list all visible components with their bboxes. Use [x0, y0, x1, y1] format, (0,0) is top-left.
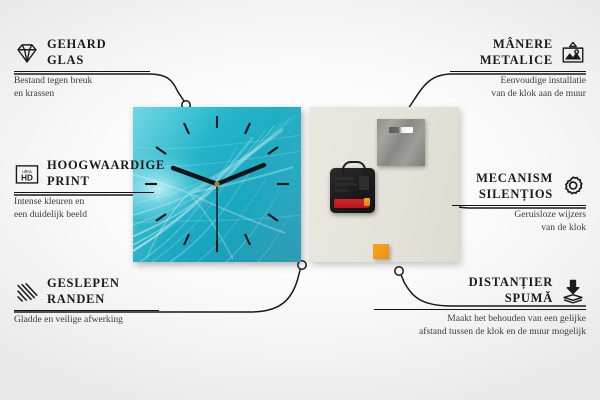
feature-subtitle-line: van de klok aan de muur: [450, 88, 586, 101]
feature-subtitle: Geruisloze wijzers van de klok: [452, 209, 586, 235]
gear-icon: [560, 174, 586, 200]
arrow-onto-layers-icon: [560, 278, 586, 304]
feature-subtitle-line: Eenvoudige installatie: [450, 75, 586, 88]
feature-title-line: MÂNERE: [480, 37, 553, 53]
feature-title: DISTANȚIER SPUMĂ: [469, 275, 553, 307]
feature-subtitle-line: Gladde en veilige afwerking: [14, 314, 159, 327]
feature-title-line: PRINT: [47, 174, 165, 190]
feature-title: HOOGWAARDIGE PRINT: [47, 158, 165, 190]
feature-divider: [374, 309, 586, 311]
feature-subtitle-line: Bestand tegen breuk: [14, 75, 150, 88]
mechanism-hanger-loop: [342, 161, 366, 174]
wire-dot-distantier-spuma: [395, 267, 403, 275]
feature-hoogwaardige-print: ultra HD HOOGWAARDIGE PRINT Intense kleu…: [14, 158, 154, 222]
ultra-hd-icon: ultra HD: [14, 161, 40, 187]
feature-gehard-glas: GEHARD GLAS Bestand tegen breuk en krass…: [14, 37, 150, 101]
feature-title-line: HOOGWAARDIGE: [47, 158, 165, 174]
feature-title: GEHARD GLAS: [47, 37, 106, 69]
feature-head: DISTANȚIER SPUMĂ: [374, 275, 586, 307]
feature-divider: [450, 71, 586, 73]
feature-subtitle-line: van de klok: [452, 222, 586, 235]
metal-hanger-plate: [377, 119, 425, 166]
feature-head: GEHARD GLAS: [14, 37, 150, 69]
battery-terminal: [364, 198, 370, 206]
feature-title: GESLEPEN RANDEN: [47, 276, 120, 308]
feature-geslepen-randen: GESLEPEN RANDEN Gladde en veilige afwerk…: [14, 276, 159, 327]
feature-head: MÂNERE METALICE: [450, 37, 586, 69]
mechanism-detail: [335, 177, 353, 180]
mechanism-detail: [359, 176, 369, 190]
diamond-icon: [14, 40, 40, 66]
feature-subtitle: Intense kleuren en een duidelijk beeld: [14, 196, 154, 222]
feature-subtitle-line: Geruisloze wijzers: [452, 209, 586, 222]
feature-title-line: SILENȚIOS: [476, 187, 553, 203]
feature-title: MÂNERE METALICE: [480, 37, 553, 69]
infographic-canvas: GEHARD GLAS Bestand tegen breuk en krass…: [0, 0, 600, 400]
feature-divider: [14, 71, 150, 73]
clock-back-image: [309, 107, 459, 262]
feature-head: ultra HD HOOGWAARDIGE PRINT: [14, 158, 154, 190]
feature-subtitle: Bestand tegen breuk en krassen: [14, 75, 150, 101]
feature-subtitle: Gladde en veilige afwerking: [14, 314, 159, 327]
feature-subtitle-line: en krassen: [14, 88, 150, 101]
hands-cap: [214, 181, 219, 186]
feature-distantier-spuma: DISTANȚIER SPUMĂ Maakt het behouden van …: [374, 275, 586, 339]
mechanism-detail: [335, 183, 357, 186]
feature-head: MECANISM SILENȚIOS: [452, 171, 586, 203]
hands-group: [173, 165, 264, 240]
feature-head: GESLEPEN RANDEN: [14, 276, 159, 308]
feature-title-line: MECANISM: [476, 171, 553, 187]
mechanism-battery: [334, 199, 369, 208]
feature-subtitle-line: een duidelijk beeld: [14, 209, 154, 222]
feature-title-line: GESLEPEN: [47, 276, 120, 292]
foam-spacer: [373, 244, 389, 259]
feature-title-line: RANDEN: [47, 292, 120, 308]
feature-title-line: METALICE: [480, 53, 553, 69]
feature-title-line: GEHARD: [47, 37, 106, 53]
feature-divider: [452, 205, 586, 207]
feature-title-line: DISTANȚIER: [469, 275, 553, 291]
clock-mechanism: [330, 168, 375, 213]
feature-subtitle: Maakt het behouden van een gelijke afsta…: [374, 313, 586, 339]
mechanism-detail: [335, 189, 349, 192]
feature-title-line: GLAS: [47, 53, 106, 69]
hour-hand: [173, 168, 217, 184]
feature-title: MECANISM SILENȚIOS: [476, 171, 553, 203]
hanger-slot: [389, 127, 413, 133]
feature-mecanism-silentios: MECANISM SILENȚIOS Geruisloze wijzers va…: [452, 171, 586, 235]
feature-divider: [14, 310, 159, 312]
feature-subtitle: Eenvoudige installatie van de klok aan d…: [450, 75, 586, 101]
wire-dot-geslepen-randen: [298, 261, 306, 269]
feature-divider: [14, 192, 154, 194]
feature-subtitle-line: Maakt het behouden van een gelijke: [374, 313, 586, 326]
feature-subtitle-line: afstand tussen de klok en de muur mogeli…: [374, 326, 586, 339]
svg-text:HD: HD: [21, 173, 33, 182]
minute-hand: [217, 165, 264, 184]
picture-frame-icon: [560, 40, 586, 66]
feature-manere-metalice: MÂNERE METALICE Eenvoudige installatie v…: [450, 37, 586, 101]
diagonal-lines-icon: [14, 279, 40, 305]
feature-subtitle-line: Intense kleuren en: [14, 196, 154, 209]
feature-title-line: SPUMĂ: [469, 291, 553, 307]
